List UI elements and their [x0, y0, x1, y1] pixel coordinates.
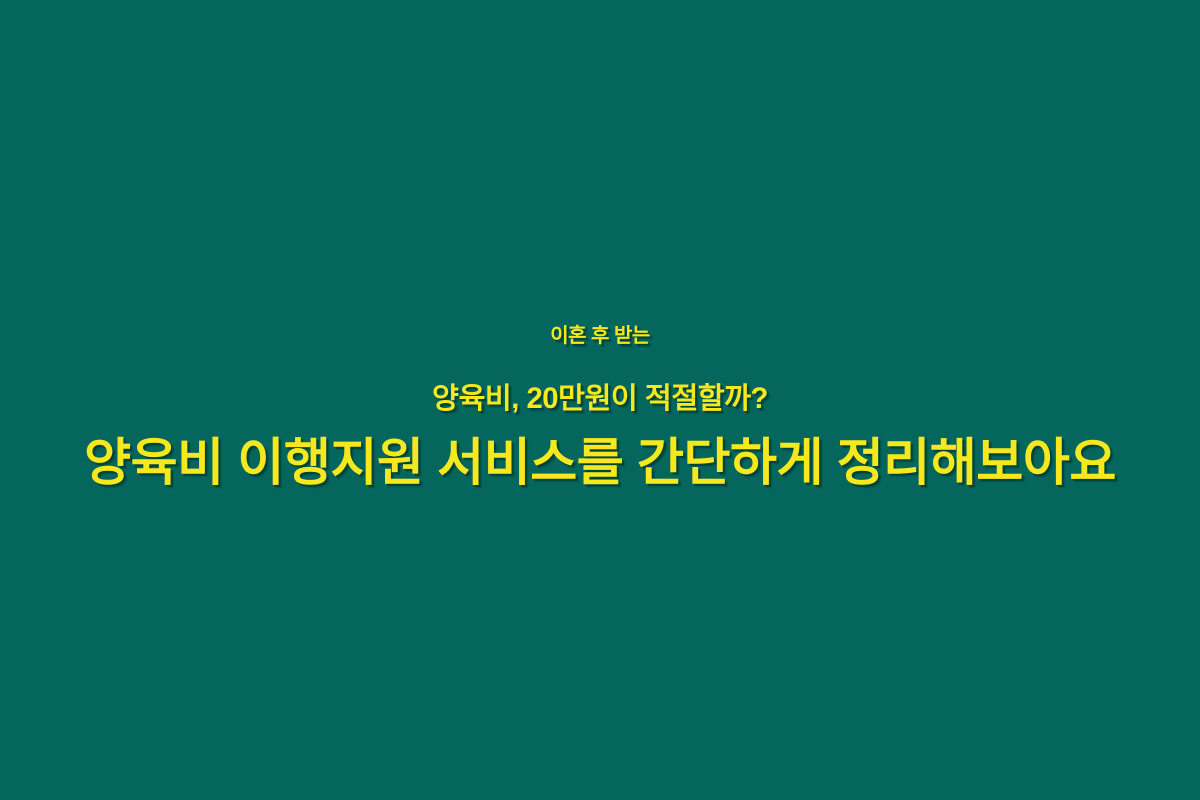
headline-line-3: 양육비 이행지원 서비스를 간단하게 정리해보아요: [0, 431, 1200, 494]
headline-block: 이혼 후 받는 양육비, 20만원이 적절할까? 양육비 이행지원 서비스를 간…: [0, 305, 1200, 494]
headline-line-2: 양육비, 20만원이 적절할까?: [0, 368, 1200, 431]
headline-line-1: 이혼 후 받는: [0, 305, 1200, 368]
banner-canvas: 이혼 후 받는 양육비, 20만원이 적절할까? 양육비 이행지원 서비스를 간…: [0, 0, 1200, 800]
